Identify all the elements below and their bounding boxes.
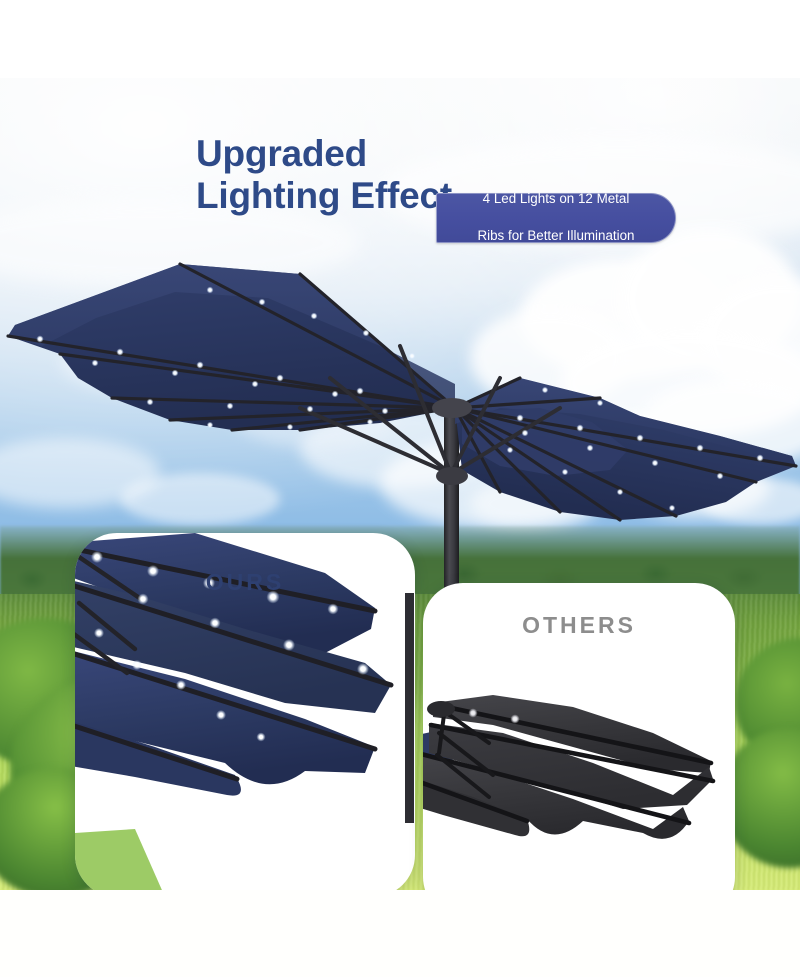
comparison-card-ours: OURS xyxy=(75,533,415,890)
feature-badge: 4 Led Lights on 12 Metal Ribs for Better… xyxy=(436,193,676,243)
feature-badge-text: 4 Led Lights on 12 Metal Ribs for Better… xyxy=(453,190,658,246)
bottom-white-margin xyxy=(0,890,800,977)
others-label: OTHERS xyxy=(423,612,735,639)
ours-label: OURS xyxy=(75,569,415,596)
headline-line-1: Upgraded xyxy=(196,133,367,174)
product-marketing-image: OURS xyxy=(0,0,800,977)
top-white-margin xyxy=(0,0,800,78)
comparison-card-others: OTHERS xyxy=(423,583,735,890)
badge-line-1: 4 Led Lights on 12 Metal xyxy=(465,190,646,209)
badge-line-2: Ribs for Better Illumination xyxy=(465,227,646,246)
